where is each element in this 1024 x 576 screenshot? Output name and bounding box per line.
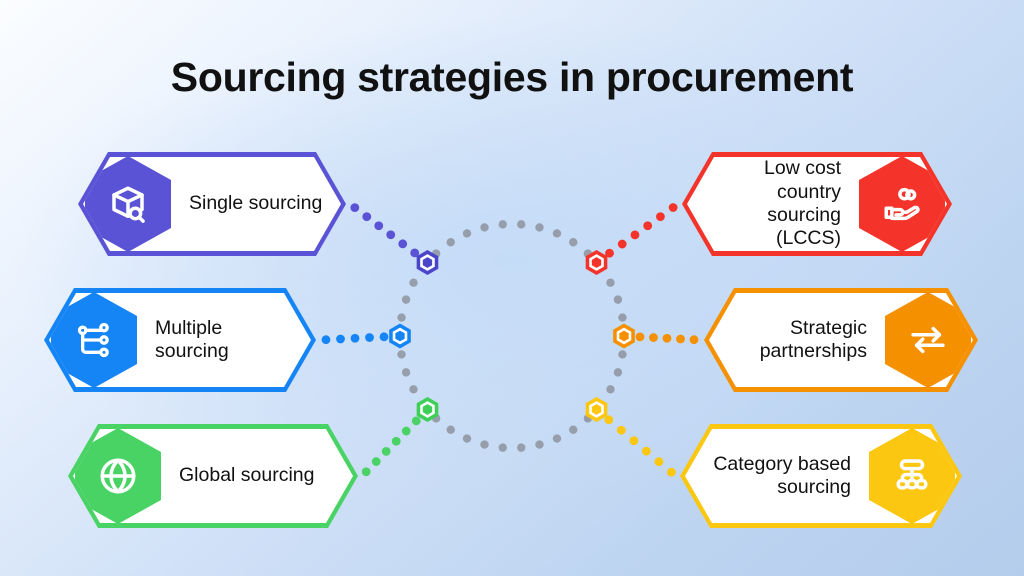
strategy-card-category-based-sourcing[interactable]: Category based sourcing xyxy=(680,424,962,528)
node-strategic-partnerships xyxy=(613,324,635,349)
card-label: Strategic partnerships xyxy=(709,317,885,364)
card-label: Low cost country sourcing (LCCS) xyxy=(687,157,859,251)
card-label: Global sourcing xyxy=(161,464,353,487)
card-body: Low cost country sourcing (LCCS) xyxy=(687,157,947,251)
card-body: Strategic partnerships xyxy=(709,293,973,387)
connector-nodes xyxy=(389,250,635,422)
strategy-card-single-sourcing[interactable]: Single sourcing xyxy=(78,152,346,256)
card-body: Multiple sourcing xyxy=(49,293,311,387)
card-label: Single sourcing xyxy=(171,192,341,215)
card-label: Category based sourcing xyxy=(685,453,869,500)
card-body: Single sourcing xyxy=(83,157,341,251)
connector-trails xyxy=(322,203,699,476)
strategy-card-multiple-sourcing[interactable]: Multiple sourcing xyxy=(44,288,316,392)
card-label: Multiple sourcing xyxy=(137,317,311,364)
strategy-card-global-sourcing[interactable]: Global sourcing xyxy=(68,424,358,528)
strategy-card-low-cost-country-sourcing[interactable]: Low cost country sourcing (LCCS) xyxy=(682,152,952,256)
node-multiple-sourcing xyxy=(389,324,411,349)
strategy-card-strategic-partnerships[interactable]: Strategic partnerships xyxy=(704,288,978,392)
card-body: Category based sourcing xyxy=(685,429,957,523)
card-body: Global sourcing xyxy=(73,429,353,523)
